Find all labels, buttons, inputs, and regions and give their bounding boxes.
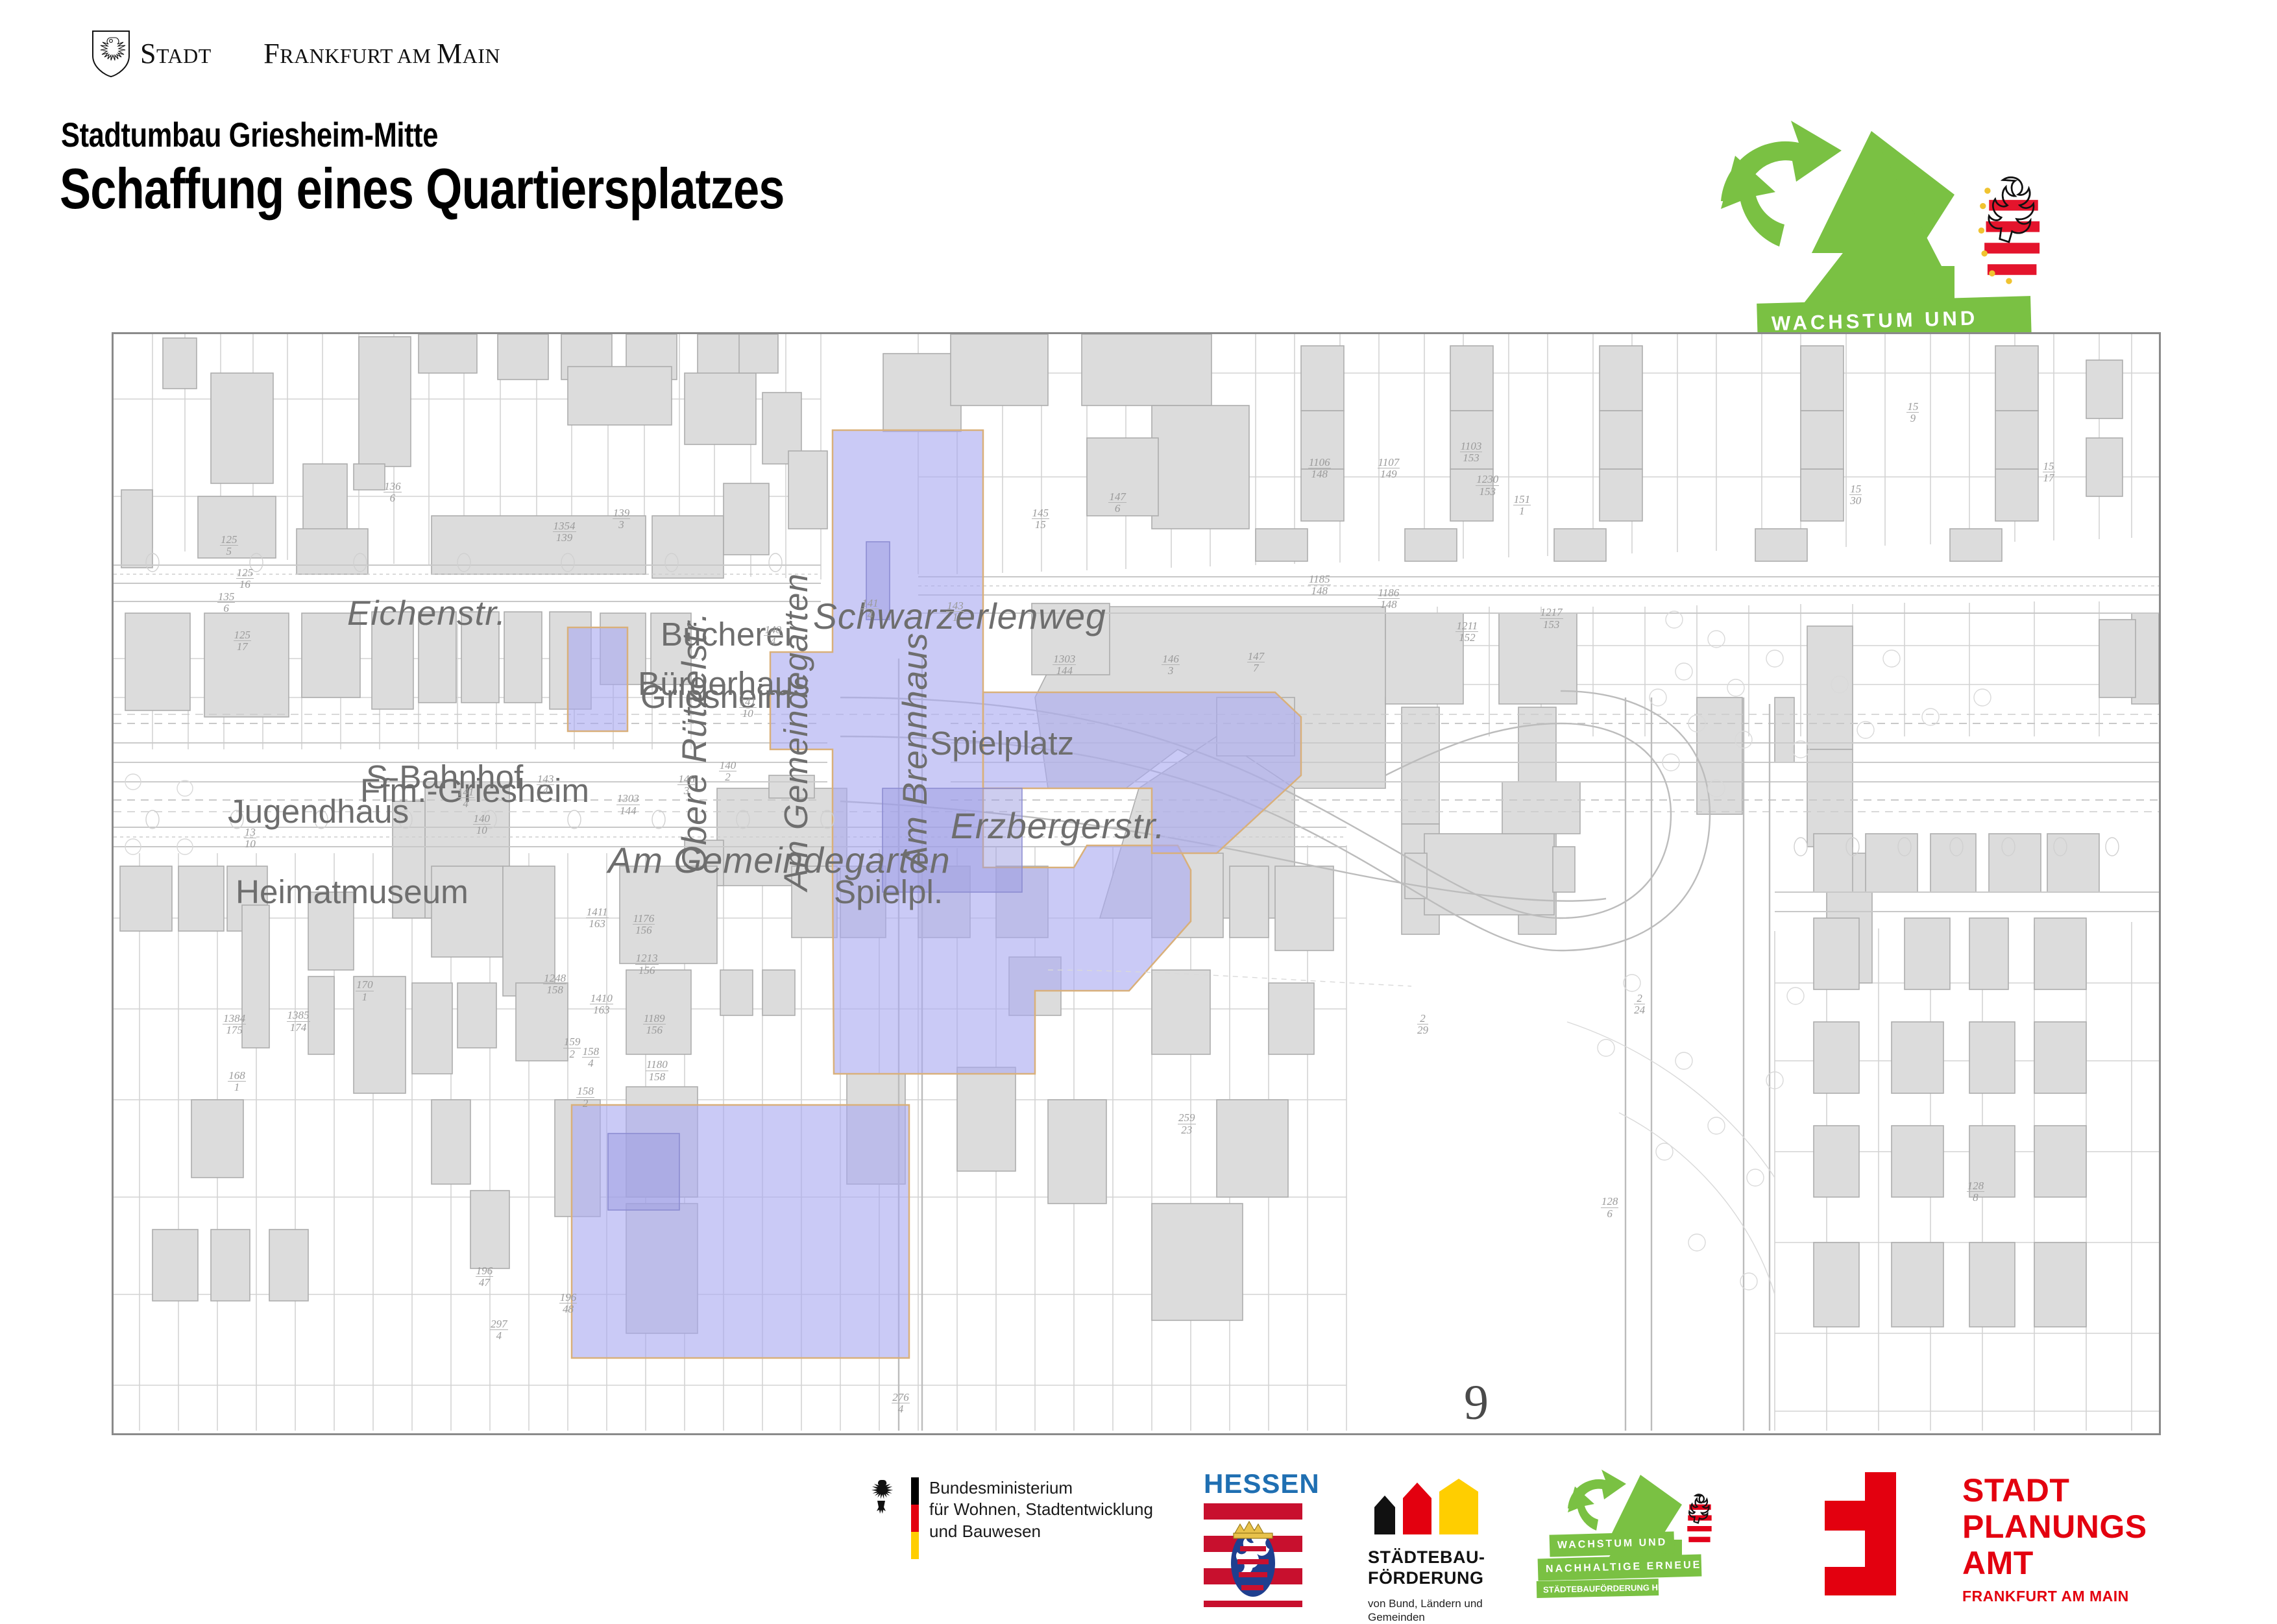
parcel-number: 1310	[244, 827, 256, 850]
sbf-line-2: FÖRDERUNG	[1368, 1568, 1530, 1588]
parcel-number: 1186148	[1378, 587, 1400, 611]
parcel-number: 1366	[384, 481, 402, 504]
parcel-number: 1404	[764, 624, 782, 648]
wordmark-s: S	[140, 38, 156, 69]
parcel-number: 1189156	[643, 1013, 666, 1036]
parcel-number: 1582	[576, 1085, 594, 1109]
parcel-number: 19647	[476, 1265, 494, 1289]
parcel-number: 1411163	[586, 906, 609, 930]
parcel-number: 1511	[1513, 494, 1531, 517]
parcel-number: 1103153	[1460, 441, 1483, 464]
parcel-number: 1303144	[616, 793, 640, 816]
spa-subline: FRANKFURT AM MAIN	[1962, 1588, 2147, 1605]
sbf-sub-1: von Bund, Ländern und	[1368, 1597, 1530, 1610]
wachstum-small-line2: NACHHALTIGE ERNEUERUNG	[1538, 1554, 1702, 1581]
spa-line-2: PLANUNGS	[1962, 1509, 2147, 1545]
parcel-number: 14010	[473, 813, 491, 836]
parcel-number: 1255	[220, 534, 238, 557]
wachstum-logo-small: WACHSTUM UND NACHHALTIGE ERNEUERUNG STÄD…	[1556, 1468, 1751, 1598]
city-of-frankfurt-logo: STADT FRANKFURT AM MAIN	[91, 31, 500, 77]
hessen-logo: HESSEN	[1204, 1468, 1308, 1607]
wachstum-small-line3: STÄDTEBAUFÖRDERUNG HESSEN	[1537, 1579, 1659, 1598]
bundesministerium-logo: Bundesministerium für Wohnen, Stadtentwi…	[863, 1477, 1153, 1559]
bmi-line-1: Bundesministerium	[929, 1477, 1153, 1499]
parcel-number: 1434	[537, 773, 555, 797]
stadtplanungsamt-logo: STADT PLANUNGS AMT FRANKFURT AM MAIN	[1825, 1472, 2147, 1605]
spa-line-3: AMT	[1962, 1545, 2147, 1581]
parcel-number: 12516	[236, 567, 254, 590]
wordmark-m: M	[437, 38, 463, 69]
parcel-number: 2974	[490, 1318, 508, 1342]
cadastral-map[interactable]: 9 Eichenstr.SchwarzerlenwegErzbergerstr.…	[112, 332, 2161, 1435]
sbf-sub-2: Gemeinden	[1368, 1610, 1530, 1624]
parcel-number: 1384175	[223, 1013, 246, 1036]
page-title: Schaffung eines Quartiersplatzes	[60, 156, 785, 222]
wordmark-rankfurt-am: RANKFURT AM	[280, 44, 437, 67]
staedtebaufoerderung-logo: STÄDTEBAU- FÖRDERUNG von Bund, Ländern u…	[1368, 1479, 1530, 1624]
parcel-number: 14110	[739, 696, 757, 720]
bmi-line-3: und Bauwesen	[929, 1521, 1153, 1542]
parcel-number: 1584	[582, 1046, 600, 1069]
parcel-number: 1286	[1601, 1196, 1619, 1219]
bmi-line-2: für Wohnen, Stadtentwicklung	[929, 1499, 1153, 1520]
wordmark-ain: AIN	[463, 44, 500, 67]
parcel-number: 1354139	[553, 520, 576, 544]
parcel-number: 1217153	[1540, 607, 1563, 630]
wordmark-tadt: TADT	[156, 44, 212, 67]
parcel-number: 1211152	[1455, 620, 1478, 644]
project-subtitle: Stadtumbau Griesheim-Mitte	[61, 115, 438, 155]
parcel-number: 1393	[613, 507, 631, 531]
three-houses-icon	[1368, 1479, 1491, 1534]
parcel-number: 1176156	[633, 913, 655, 936]
parcel-number: 1213156	[635, 952, 659, 976]
parcel-number: 19648	[559, 1292, 578, 1315]
street-label-am-brennhaus: Am Brennhaus	[895, 632, 935, 869]
parcel-number: 1356	[217, 591, 236, 614]
frankfurt-eagle-crest-icon	[91, 30, 131, 78]
parcel-number: 25923	[1178, 1112, 1196, 1135]
parcel-number: 2764	[892, 1392, 910, 1415]
wordmark-f: F	[263, 38, 280, 69]
parcel-number: 1431	[946, 600, 964, 624]
street-label-eichenstr: Eichenstr.	[347, 594, 506, 633]
parcel-number: 1592	[563, 1036, 581, 1060]
parcel-number: 1180158	[646, 1059, 668, 1082]
place-label-spielpl: Spielpl.	[834, 873, 943, 911]
parcel-number: 1385174	[287, 1010, 310, 1033]
parcel-number: 1681	[228, 1070, 246, 1093]
hessen-wordmark: HESSEN	[1204, 1468, 1308, 1499]
city-wordmark: STADT FRANKFURT AM MAIN	[140, 40, 500, 68]
parcel-number: 229	[1417, 1013, 1428, 1036]
parcel-number: 1414	[457, 786, 475, 810]
parcel-number: 1463	[1162, 653, 1180, 677]
street-label-erzbergerstr: Erzbergerstr.	[951, 805, 1165, 847]
parcel-number: 1414	[861, 598, 879, 621]
parcel-number: 1230153	[1476, 474, 1499, 497]
parcel-number: 1517	[2043, 461, 2055, 484]
place-label-griesheim: Griesheim	[640, 677, 792, 716]
parcel-number: 1185148	[1308, 574, 1331, 597]
parcel-number: 12517	[234, 629, 252, 653]
svg-text:9: 9	[1464, 1376, 1489, 1430]
stadtplanungsamt-mark-icon	[1825, 1472, 1935, 1595]
parcel-number: 1463	[677, 773, 696, 797]
parcel-number: 1288	[1967, 1180, 1985, 1204]
parcel-number: 1701	[356, 979, 374, 1002]
hessen-coat-of-arms-icon	[1204, 1503, 1302, 1607]
parcel-number: 1477	[1247, 651, 1265, 674]
federal-eagle-icon	[863, 1477, 899, 1515]
parcel-number: 1530	[1849, 483, 1862, 507]
wachstum-small-line1: WACHSTUM UND	[1550, 1531, 1675, 1557]
parcel-number: 159	[1906, 401, 1919, 424]
place-label-spielplatz: Spielplatz	[930, 724, 1074, 762]
parcel-number: 1303144	[1053, 653, 1076, 677]
parcel-number: 1402	[719, 760, 737, 783]
parcel-number: 14515	[1032, 507, 1050, 531]
parcel-number: 1106148	[1308, 457, 1331, 480]
parcel-number: 1107149	[1378, 457, 1400, 480]
parcel-number: 1410163	[590, 993, 613, 1016]
parcel-number: 224	[1634, 993, 1645, 1016]
parcel-number: 1476	[1108, 491, 1126, 515]
spa-line-1: STADT	[1962, 1472, 2147, 1509]
place-label-jugendhaus: Jugendhaus	[228, 792, 409, 830]
parcel-number: 1248158	[543, 973, 566, 996]
funding-logos-footer: Bundesministerium für Wohnen, Stadtentwi…	[0, 1463, 2277, 1609]
sbf-line-1: STÄDTEBAU-	[1368, 1547, 1530, 1568]
place-label-heimatmuseum: Heimatmuseum	[236, 873, 469, 911]
